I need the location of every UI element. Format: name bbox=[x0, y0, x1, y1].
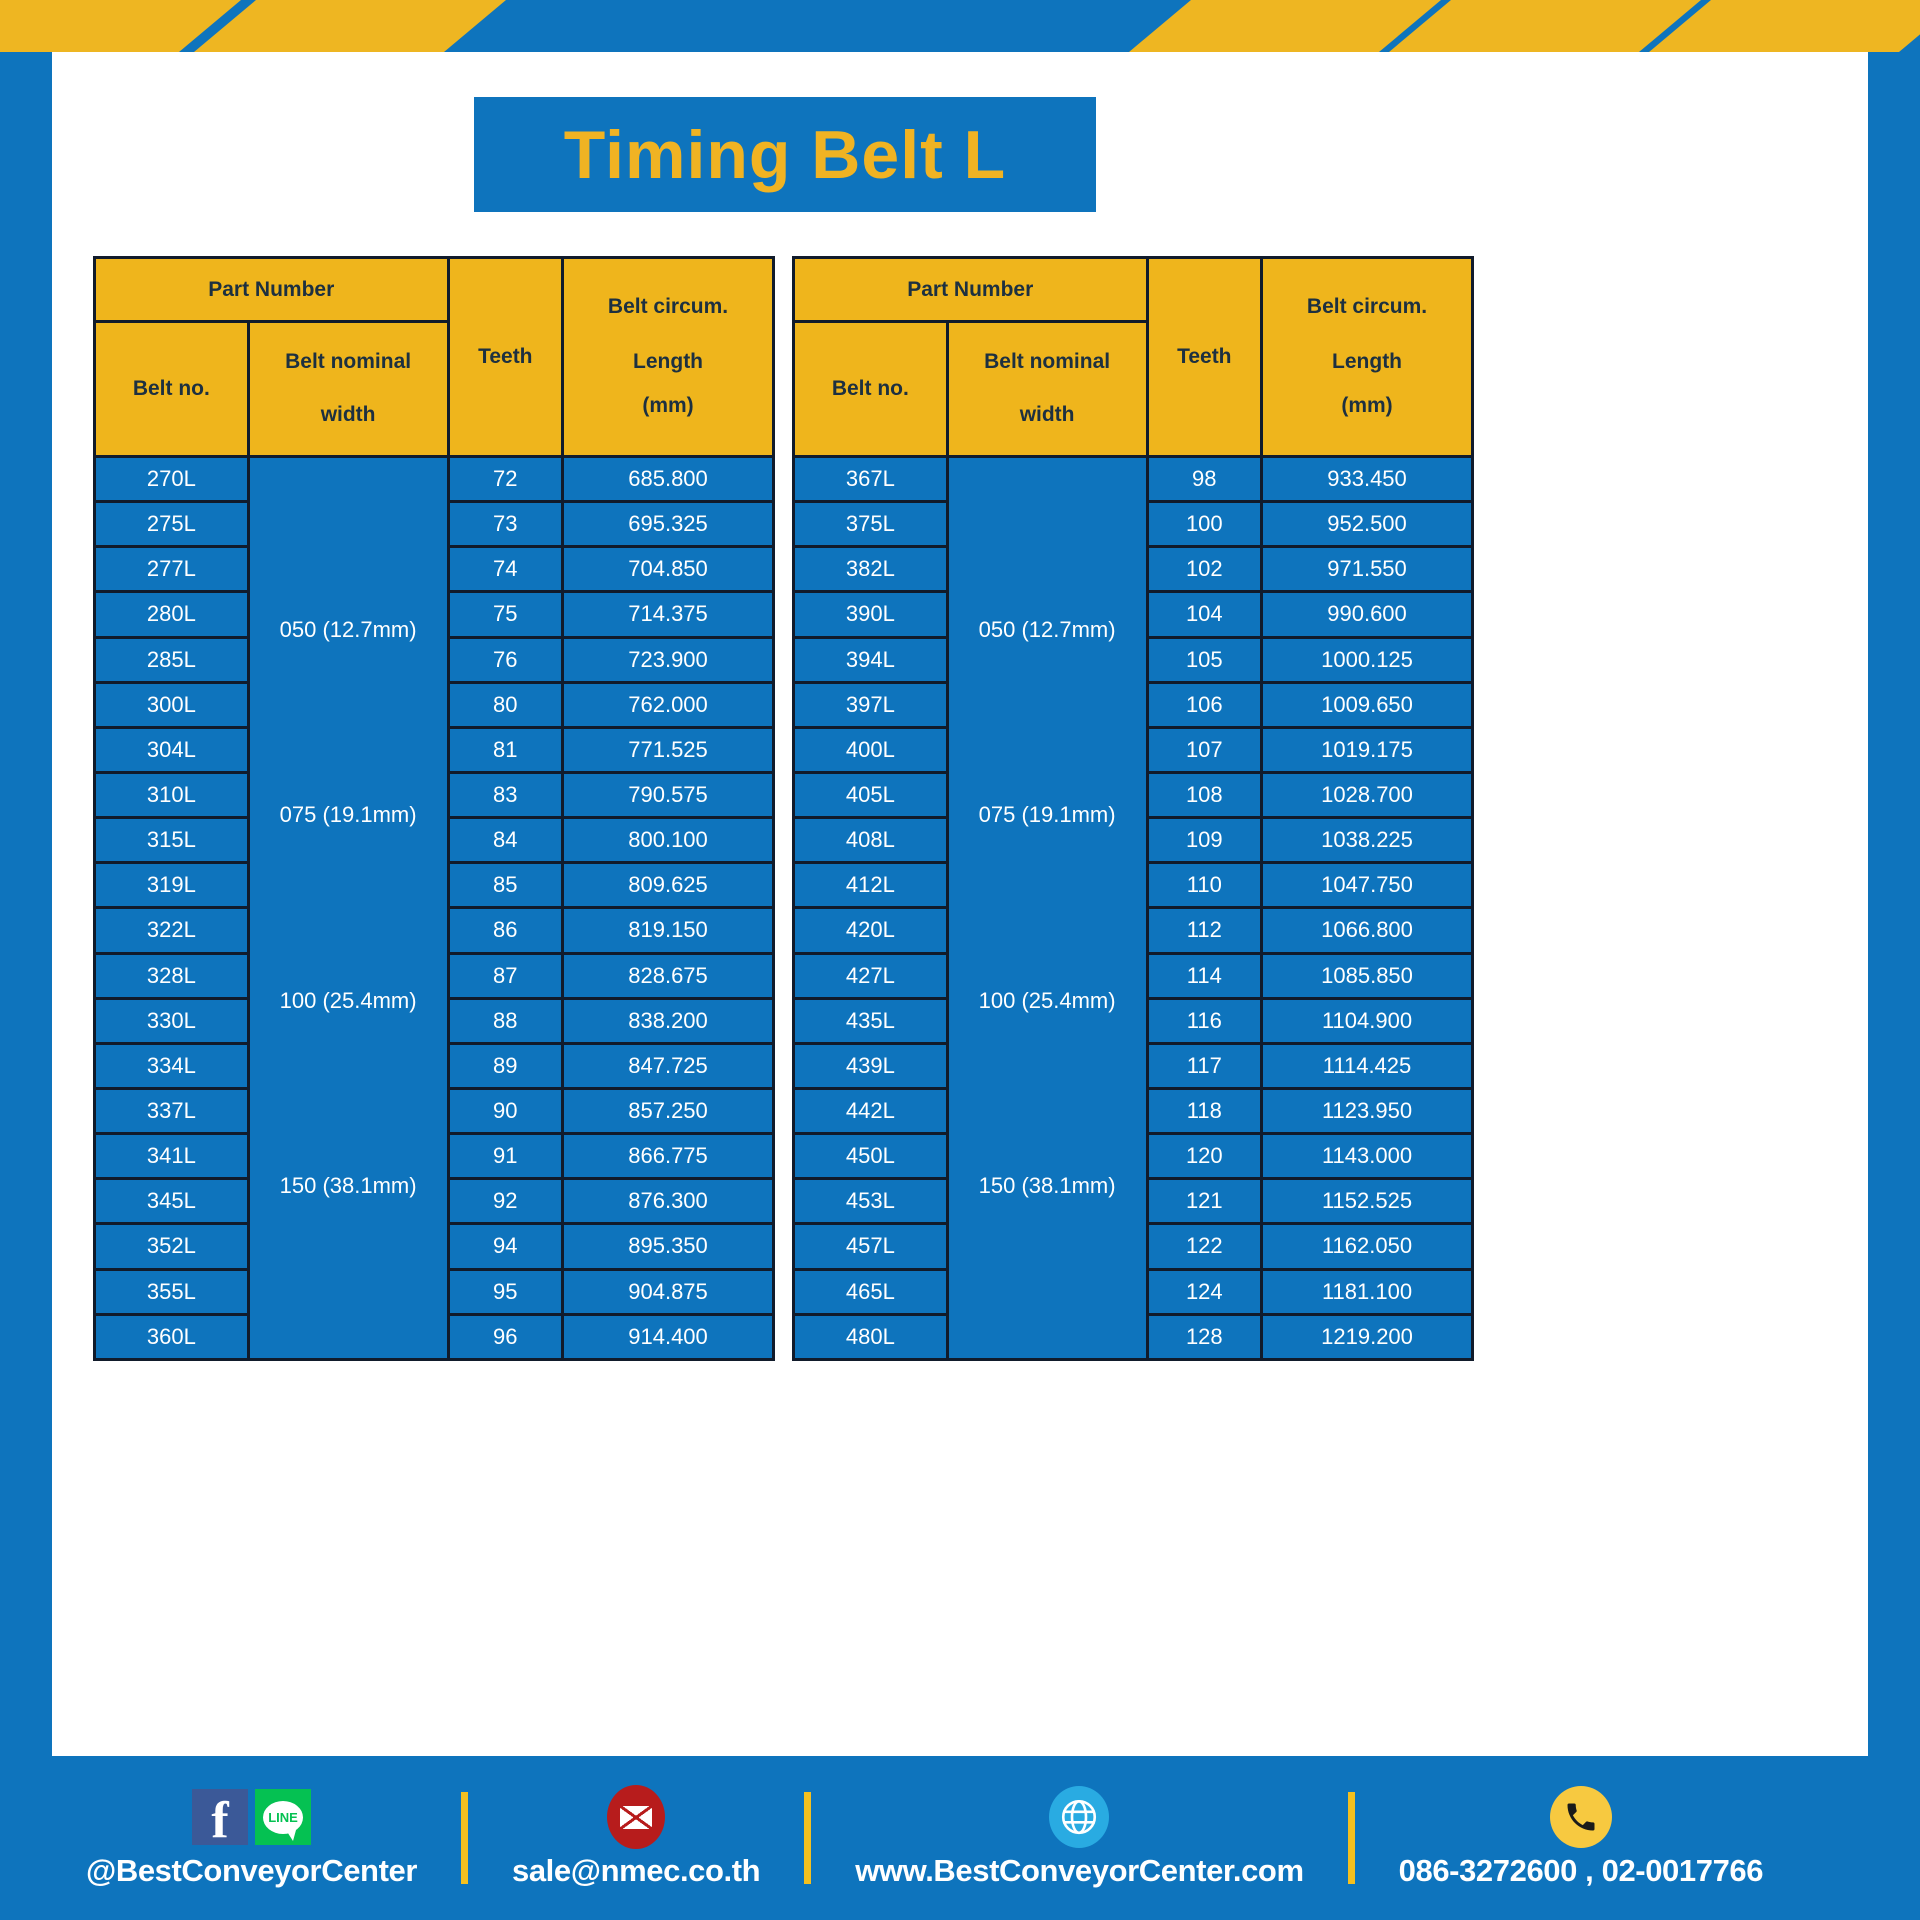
header-unit-line: (mm) bbox=[564, 390, 772, 423]
footer-phone[interactable]: 086-3272600 , 02-0017766 bbox=[1399, 1787, 1763, 1889]
footer-email[interactable]: sale@nmec.co.th bbox=[512, 1787, 760, 1889]
header-length-line: Length bbox=[564, 346, 772, 379]
cell-length: 1047.750 bbox=[1262, 863, 1473, 908]
footer-divider bbox=[804, 1792, 811, 1884]
cell-length: 1085.850 bbox=[1262, 953, 1473, 998]
cell-length: 914.400 bbox=[563, 1314, 774, 1359]
cell-length: 704.850 bbox=[563, 547, 774, 592]
cell-teeth: 73 bbox=[448, 502, 563, 547]
table-header-row: Part Number Teeth Belt circum. Length (m… bbox=[95, 258, 774, 322]
table-header-row: Part Number Teeth Belt circum. Length (m… bbox=[794, 258, 1473, 322]
cell-length: 1181.100 bbox=[1262, 1269, 1473, 1314]
cell-teeth: 81 bbox=[448, 727, 563, 772]
cell-belt-no: 337L bbox=[95, 1088, 249, 1133]
cell-length: 952.500 bbox=[1262, 502, 1473, 547]
cell-length: 1114.425 bbox=[1262, 1043, 1473, 1088]
cell-teeth: 94 bbox=[448, 1224, 563, 1269]
page-title: Timing Belt L bbox=[564, 121, 1006, 189]
width-option: 100 (25.4mm) bbox=[250, 988, 447, 1014]
cell-belt-no: 270L bbox=[95, 457, 249, 502]
cell-belt-no: 394L bbox=[794, 637, 948, 682]
cell-belt-no: 315L bbox=[95, 818, 249, 863]
cell-teeth: 91 bbox=[448, 1134, 563, 1179]
chevron-decoration bbox=[187, 0, 513, 52]
cell-belt-no: 285L bbox=[95, 637, 249, 682]
cell-length: 800.100 bbox=[563, 818, 774, 863]
cell-teeth: 116 bbox=[1147, 998, 1262, 1043]
cell-teeth: 72 bbox=[448, 457, 563, 502]
header-belt-no: Belt no. bbox=[95, 322, 249, 457]
cell-teeth: 75 bbox=[448, 592, 563, 637]
cell-teeth: 102 bbox=[1147, 547, 1262, 592]
cell-length: 1028.700 bbox=[1262, 772, 1473, 817]
footer-divider bbox=[461, 1792, 468, 1884]
cell-length: 771.525 bbox=[563, 727, 774, 772]
cell-teeth: 87 bbox=[448, 953, 563, 998]
width-option: 150 (38.1mm) bbox=[250, 1173, 447, 1199]
footer-social[interactable]: f LINE @BestConveyorCenter bbox=[86, 1787, 417, 1889]
line-icon[interactable]: LINE bbox=[255, 1789, 311, 1845]
cell-teeth: 80 bbox=[448, 682, 563, 727]
cell-belt-no: 442L bbox=[794, 1088, 948, 1133]
footer-website-text: www.BestConveyorCenter.com bbox=[855, 1853, 1303, 1889]
cell-length: 895.350 bbox=[563, 1224, 774, 1269]
cell-belt-no: 400L bbox=[794, 727, 948, 772]
cell-belt-no: 319L bbox=[95, 863, 249, 908]
cell-belt-no: 277L bbox=[95, 547, 249, 592]
cell-belt-no: 334L bbox=[95, 1043, 249, 1088]
table-row: 367L050 (12.7mm)075 (19.1mm)100 (25.4mm)… bbox=[794, 457, 1473, 502]
width-option: 050 (12.7mm) bbox=[949, 617, 1146, 643]
cell-belt-no: 304L bbox=[95, 727, 249, 772]
cell-length: 1219.200 bbox=[1262, 1314, 1473, 1359]
cell-belt-no: 275L bbox=[95, 502, 249, 547]
footer-web-icon-wrap bbox=[1049, 1787, 1109, 1847]
cell-length: 809.625 bbox=[563, 863, 774, 908]
cell-length: 866.775 bbox=[563, 1134, 774, 1179]
page-title-banner: Timing Belt L bbox=[474, 97, 1096, 212]
header-belt-nominal-width: Belt nominal width bbox=[248, 322, 448, 457]
width-option: 075 (19.1mm) bbox=[949, 802, 1146, 828]
cell-belt-no: 352L bbox=[95, 1224, 249, 1269]
cell-belt-no: 328L bbox=[95, 953, 249, 998]
cell-length: 1152.525 bbox=[1262, 1179, 1473, 1224]
header-teeth: Teeth bbox=[448, 258, 563, 457]
cell-belt-no: 439L bbox=[794, 1043, 948, 1088]
cell-length: 1143.000 bbox=[1262, 1134, 1473, 1179]
header-belt-circum: Belt circum. Length (mm) bbox=[1262, 258, 1473, 457]
belt-table-right: Part Number Teeth Belt circum. Length (m… bbox=[792, 256, 1474, 1361]
cell-belt-no: 280L bbox=[95, 592, 249, 637]
cell-belt-no: 310L bbox=[95, 772, 249, 817]
cell-teeth: 95 bbox=[448, 1269, 563, 1314]
header-unit-line: (mm) bbox=[1263, 390, 1471, 423]
cell-length: 990.600 bbox=[1262, 592, 1473, 637]
cell-teeth: 105 bbox=[1147, 637, 1262, 682]
globe-icon[interactable] bbox=[1049, 1786, 1109, 1848]
cell-length: 790.575 bbox=[563, 772, 774, 817]
cell-belt-no: 427L bbox=[794, 953, 948, 998]
cell-teeth: 98 bbox=[1147, 457, 1262, 502]
cell-length: 723.900 bbox=[563, 637, 774, 682]
cell-belt-no: 453L bbox=[794, 1179, 948, 1224]
cell-teeth: 74 bbox=[448, 547, 563, 592]
cell-teeth: 121 bbox=[1147, 1179, 1262, 1224]
belt-table-left-body: 270L050 (12.7mm)075 (19.1mm)100 (25.4mm)… bbox=[95, 457, 774, 1360]
cell-length: 685.800 bbox=[563, 457, 774, 502]
width-option: 075 (19.1mm) bbox=[250, 802, 447, 828]
footer-divider bbox=[1348, 1792, 1355, 1884]
cell-length: 1066.800 bbox=[1262, 908, 1473, 953]
header-width-line1: Belt nominal bbox=[949, 346, 1146, 379]
cell-length: 819.150 bbox=[563, 908, 774, 953]
cell-belt-no: 450L bbox=[794, 1134, 948, 1179]
cell-belt-no: 480L bbox=[794, 1314, 948, 1359]
cell-teeth: 92 bbox=[448, 1179, 563, 1224]
cell-length: 1104.900 bbox=[1262, 998, 1473, 1043]
cell-belt-no: 405L bbox=[794, 772, 948, 817]
cell-teeth: 83 bbox=[448, 772, 563, 817]
cell-length: 904.875 bbox=[563, 1269, 774, 1314]
cell-teeth: 128 bbox=[1147, 1314, 1262, 1359]
cell-length: 847.725 bbox=[563, 1043, 774, 1088]
cell-length: 838.200 bbox=[563, 998, 774, 1043]
header-part-number: Part Number bbox=[794, 258, 1148, 322]
cell-belt-no: 360L bbox=[95, 1314, 249, 1359]
cell-length: 828.675 bbox=[563, 953, 774, 998]
cell-teeth: 85 bbox=[448, 863, 563, 908]
footer-phone-text: 086-3272600 , 02-0017766 bbox=[1399, 1853, 1763, 1889]
cell-belt-no: 408L bbox=[794, 818, 948, 863]
footer-social-text: @BestConveyorCenter bbox=[86, 1853, 417, 1889]
cell-belt-no: 397L bbox=[794, 682, 948, 727]
table-row: 270L050 (12.7mm)075 (19.1mm)100 (25.4mm)… bbox=[95, 457, 774, 502]
header-teeth: Teeth bbox=[1147, 258, 1262, 457]
cell-belt-no: 300L bbox=[95, 682, 249, 727]
cell-belt-no: 322L bbox=[95, 908, 249, 953]
cell-teeth: 89 bbox=[448, 1043, 563, 1088]
cell-teeth: 110 bbox=[1147, 863, 1262, 908]
cell-length: 1162.050 bbox=[1262, 1224, 1473, 1269]
line-bubble: LINE bbox=[263, 1801, 303, 1834]
cell-length: 876.300 bbox=[563, 1179, 774, 1224]
cell-belt-no: 355L bbox=[95, 1269, 249, 1314]
cell-belt-nominal-width: 050 (12.7mm)075 (19.1mm)100 (25.4mm)150 … bbox=[248, 457, 448, 1360]
cell-length: 857.250 bbox=[563, 1088, 774, 1133]
cell-teeth: 122 bbox=[1147, 1224, 1262, 1269]
footer-website[interactable]: www.BestConveyorCenter.com bbox=[855, 1787, 1303, 1889]
cell-length: 1009.650 bbox=[1262, 682, 1473, 727]
cell-belt-no: 457L bbox=[794, 1224, 948, 1269]
cell-teeth: 96 bbox=[448, 1314, 563, 1359]
header-belt-circum: Belt circum. Length (mm) bbox=[563, 258, 774, 457]
cell-teeth: 84 bbox=[448, 818, 563, 863]
cell-teeth: 86 bbox=[448, 908, 563, 953]
cell-teeth: 107 bbox=[1147, 727, 1262, 772]
cell-teeth: 112 bbox=[1147, 908, 1262, 953]
cell-belt-no: 367L bbox=[794, 457, 948, 502]
header-belt-nominal-width: Belt nominal width bbox=[947, 322, 1147, 457]
cell-belt-no: 330L bbox=[95, 998, 249, 1043]
cell-belt-no: 390L bbox=[794, 592, 948, 637]
header-part-number: Part Number bbox=[95, 258, 449, 322]
cell-teeth: 114 bbox=[1147, 953, 1262, 998]
cell-belt-no: 341L bbox=[95, 1134, 249, 1179]
cell-teeth: 76 bbox=[448, 637, 563, 682]
cell-teeth: 117 bbox=[1147, 1043, 1262, 1088]
cell-belt-no: 435L bbox=[794, 998, 948, 1043]
cell-teeth: 100 bbox=[1147, 502, 1262, 547]
header-belt-circum-line1: Belt circum. bbox=[1263, 291, 1471, 324]
cell-length: 1123.950 bbox=[1262, 1088, 1473, 1133]
cell-belt-no: 382L bbox=[794, 547, 948, 592]
cell-teeth: 90 bbox=[448, 1088, 563, 1133]
cell-length: 971.550 bbox=[1262, 547, 1473, 592]
footer-email-text: sale@nmec.co.th bbox=[512, 1853, 760, 1889]
cell-teeth: 104 bbox=[1147, 592, 1262, 637]
phone-icon[interactable] bbox=[1550, 1786, 1612, 1848]
cell-length: 1019.175 bbox=[1262, 727, 1473, 772]
belt-table-right-body: 367L050 (12.7mm)075 (19.1mm)100 (25.4mm)… bbox=[794, 457, 1473, 1360]
cell-teeth: 88 bbox=[448, 998, 563, 1043]
footer-email-icon-wrap bbox=[607, 1787, 665, 1847]
width-option: 150 (38.1mm) bbox=[949, 1173, 1146, 1199]
facebook-icon[interactable]: f bbox=[192, 1789, 248, 1845]
cell-length: 714.375 bbox=[563, 592, 774, 637]
cell-teeth: 106 bbox=[1147, 682, 1262, 727]
cell-teeth: 124 bbox=[1147, 1269, 1262, 1314]
footer-phone-icon-wrap bbox=[1550, 1787, 1612, 1847]
cell-teeth: 108 bbox=[1147, 772, 1262, 817]
cell-length: 1000.125 bbox=[1262, 637, 1473, 682]
cell-length: 695.325 bbox=[563, 502, 774, 547]
cell-length: 1038.225 bbox=[1262, 818, 1473, 863]
cell-belt-no: 465L bbox=[794, 1269, 948, 1314]
width-option: 050 (12.7mm) bbox=[250, 617, 447, 643]
footer-bar: f LINE @BestConveyorCenter sale@nmec.co.… bbox=[0, 1756, 1920, 1920]
tables-container: Part Number Teeth Belt circum. Length (m… bbox=[93, 256, 1474, 1361]
width-option: 100 (25.4mm) bbox=[949, 988, 1146, 1014]
cell-length: 933.450 bbox=[1262, 457, 1473, 502]
cell-teeth: 120 bbox=[1147, 1134, 1262, 1179]
cell-belt-no: 420L bbox=[794, 908, 948, 953]
footer-social-icons: f LINE bbox=[192, 1787, 311, 1847]
header-length-line: Length bbox=[1263, 346, 1471, 379]
belt-table-left: Part Number Teeth Belt circum. Length (m… bbox=[93, 256, 775, 1361]
cell-belt-nominal-width: 050 (12.7mm)075 (19.1mm)100 (25.4mm)150 … bbox=[947, 457, 1147, 1360]
header-belt-no: Belt no. bbox=[794, 322, 948, 457]
header-width-line2: width bbox=[250, 399, 447, 432]
top-decorative-band bbox=[0, 0, 1920, 52]
cell-belt-no: 375L bbox=[794, 502, 948, 547]
cell-teeth: 118 bbox=[1147, 1088, 1262, 1133]
cell-belt-no: 345L bbox=[95, 1179, 249, 1224]
header-belt-circum-line1: Belt circum. bbox=[564, 291, 772, 324]
header-width-line1: Belt nominal bbox=[250, 346, 447, 379]
header-width-line2: width bbox=[949, 399, 1146, 432]
cell-teeth: 109 bbox=[1147, 818, 1262, 863]
email-icon[interactable] bbox=[607, 1785, 665, 1849]
cell-length: 762.000 bbox=[563, 682, 774, 727]
cell-belt-no: 412L bbox=[794, 863, 948, 908]
